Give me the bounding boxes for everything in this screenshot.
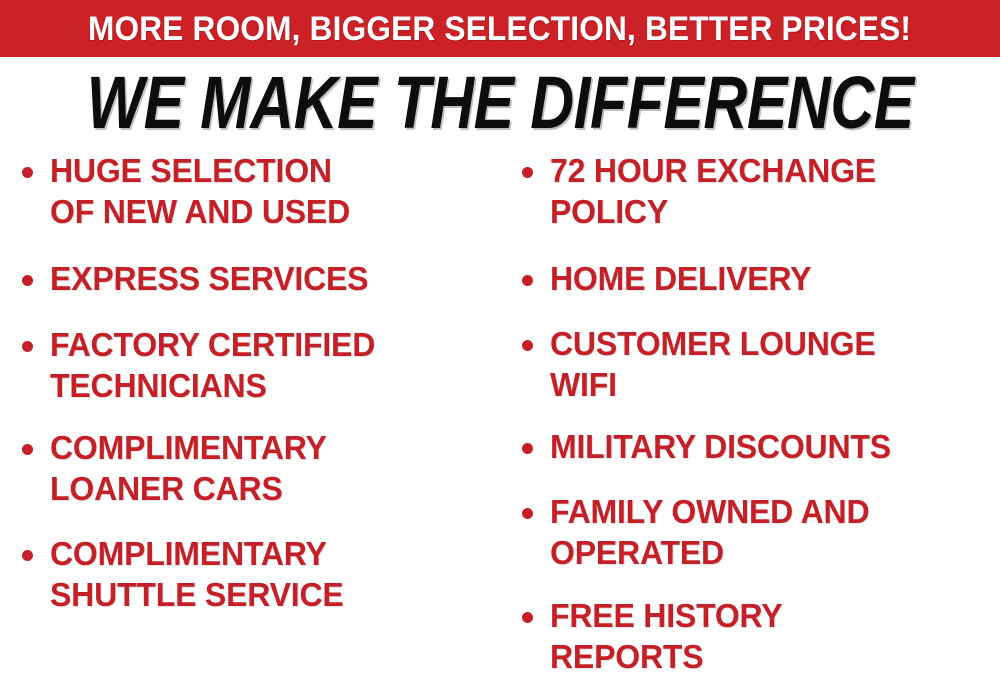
list-item-label: FACTORY CERTIFIED TECHNICIANS [50,324,487,406]
list-item: CUSTOMER LOUNGE WIFI [508,323,1000,405]
list-item-label: MILITARY DISCOUNTS [550,426,987,467]
list-item-label: COMPLIMENTARY LOANER CARS [50,427,487,509]
list-item: 72 HOUR EXCHANGE POLICY [508,150,1000,232]
list-item-label: COMPLIMENTARY SHUTTLE SERVICE [50,533,487,615]
spacer [8,410,500,427]
list-item: EXPRESS SERVICES [8,258,500,299]
spacer [508,577,1000,595]
bullet-dot-icon [22,167,33,178]
bullet-dot-icon [522,275,533,286]
headline-container: WE MAKE THE DIFFERENCE [0,60,1000,145]
bullet-dot-icon [522,443,533,454]
list-item: FREE HISTORY REPORTS [508,595,1000,677]
bullet-dot-icon [522,167,533,178]
spacer [508,471,1000,491]
promo-banner-text: MORE ROOM, BIGGER SELECTION, BETTER PRIC… [88,12,911,46]
list-item: COMPLIMENTARY LOANER CARS [8,427,500,509]
spacer [508,236,1000,258]
benefits-column-right: 72 HOUR EXCHANGE POLICY HOME DELIVERY CU… [508,150,1000,694]
bullet-dot-icon [22,444,33,455]
spacer [508,409,1000,426]
list-item-label: FAMILY OWNED AND OPERATED [550,491,987,573]
list-item-label: HUGE SELECTION OF NEW AND USED [50,150,487,232]
list-item: HUGE SELECTION OF NEW AND USED [8,150,500,232]
benefits-columns: HUGE SELECTION OF NEW AND USED EXPRESS S… [0,150,1000,694]
list-item: COMPLIMENTARY SHUTTLE SERVICE [8,533,500,615]
spacer [508,303,1000,323]
bullet-dot-icon [522,340,533,351]
list-item: FAMILY OWNED AND OPERATED [508,491,1000,573]
bullet-dot-icon [22,550,33,561]
list-item: MILITARY DISCOUNTS [508,426,1000,467]
page-title: WE MAKE THE DIFFERENCE [86,66,913,140]
promo-banner: MORE ROOM, BIGGER SELECTION, BETTER PRIC… [0,0,1000,57]
spacer [8,236,500,258]
list-item-label: CUSTOMER LOUNGE WIFI [550,323,987,405]
bullet-dot-icon [22,275,33,286]
bullet-dot-icon [522,612,533,623]
bullet-dot-icon [522,508,533,519]
bullet-dot-icon [22,341,33,352]
list-item: FACTORY CERTIFIED TECHNICIANS [8,324,500,406]
list-item-label: EXPRESS SERVICES [50,258,487,299]
list-item: HOME DELIVERY [508,258,1000,299]
benefits-column-left: HUGE SELECTION OF NEW AND USED EXPRESS S… [8,150,500,694]
list-item-label: HOME DELIVERY [550,258,987,299]
spacer [8,513,500,533]
spacer [8,303,500,324]
list-item-label: FREE HISTORY REPORTS [550,595,987,677]
list-item-label: 72 HOUR EXCHANGE POLICY [550,150,987,232]
